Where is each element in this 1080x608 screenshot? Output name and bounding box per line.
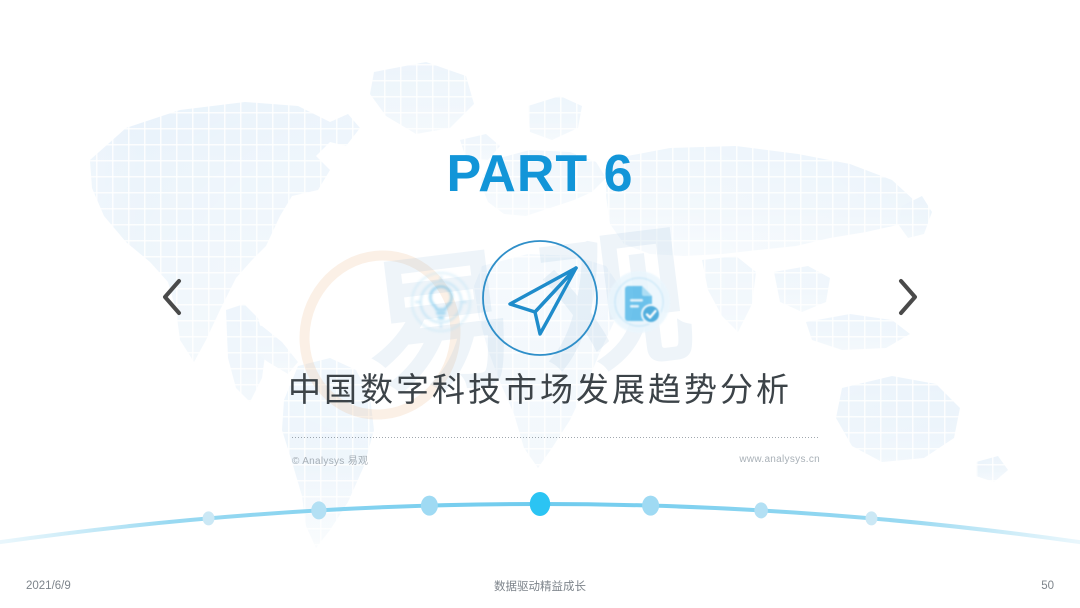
progress-dot[interactable] bbox=[311, 501, 326, 519]
progress-arc bbox=[0, 462, 1080, 552]
arc-graphic bbox=[0, 462, 1080, 552]
progress-dot[interactable] bbox=[421, 496, 438, 516]
progress-dot[interactable] bbox=[530, 492, 550, 516]
section-title: 中国数字科技市场发展趋势分析 bbox=[0, 370, 1080, 410]
progress-dot[interactable] bbox=[866, 511, 878, 525]
icon-cluster bbox=[400, 238, 680, 360]
paper-plane-icon bbox=[480, 238, 600, 358]
progress-dot[interactable] bbox=[203, 511, 215, 525]
presentation-slide: 易观 PART 6 bbox=[0, 0, 1080, 608]
lightbulb-icon bbox=[410, 271, 472, 333]
next-slide-button[interactable] bbox=[881, 270, 935, 324]
slide-footer: 2021/6/9 数据驱动精益成长 50 bbox=[0, 564, 1080, 608]
progress-dot-group bbox=[203, 492, 878, 525]
progress-dot[interactable] bbox=[642, 496, 659, 516]
chevron-right-icon bbox=[895, 277, 921, 317]
footer-slogan: 数据驱动精益成长 bbox=[0, 578, 1080, 594]
document-check-icon bbox=[606, 269, 672, 335]
part-label: PART 6 bbox=[0, 148, 1080, 200]
chevron-left-icon bbox=[159, 277, 185, 317]
footer-page-number: 50 bbox=[1041, 580, 1054, 592]
progress-dot[interactable] bbox=[754, 502, 768, 518]
previous-slide-button[interactable] bbox=[145, 270, 199, 324]
dotted-divider bbox=[292, 437, 820, 438]
